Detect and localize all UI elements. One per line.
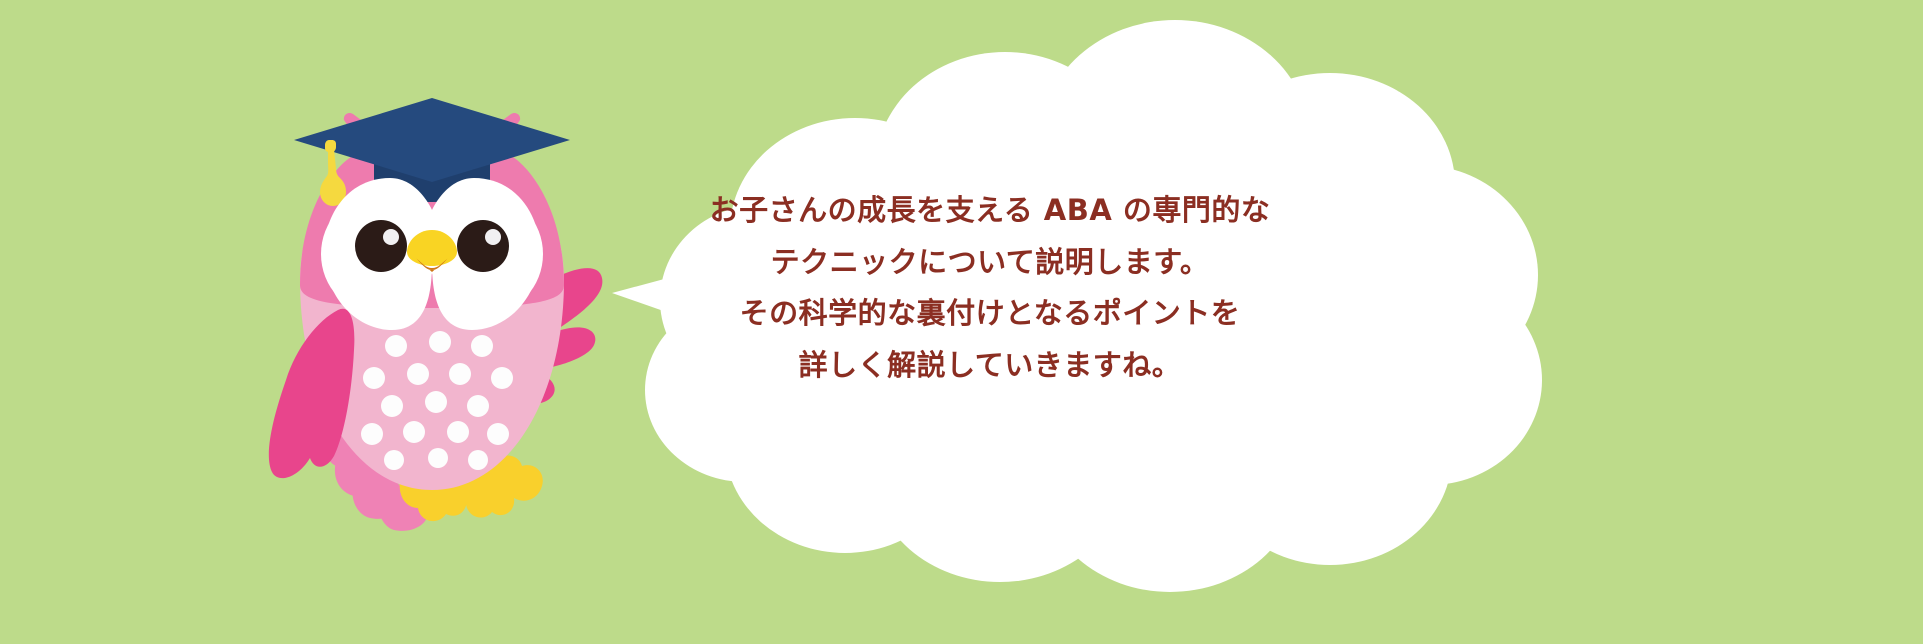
right-eye-glint bbox=[485, 229, 501, 245]
left-eye-glint bbox=[383, 229, 399, 245]
banner-stage: お子さんの成長を支える ABA の専門的な テクニックについて説明します。 その… bbox=[0, 0, 1923, 644]
bubble-line-4: 詳しく解説していきますね。 bbox=[660, 340, 1320, 392]
right-eye bbox=[457, 220, 509, 272]
speech-bubble-text: お子さんの成長を支える ABA の専門的な テクニックについて説明します。 その… bbox=[660, 185, 1320, 391]
bubble-line-3: その科学的な裏付けとなるポイントを bbox=[660, 288, 1320, 340]
bubble-line-2: テクニックについて説明します。 bbox=[660, 237, 1320, 289]
left-eye bbox=[355, 220, 407, 272]
bubble-line-1: お子さんの成長を支える ABA の専門的な bbox=[660, 185, 1320, 237]
